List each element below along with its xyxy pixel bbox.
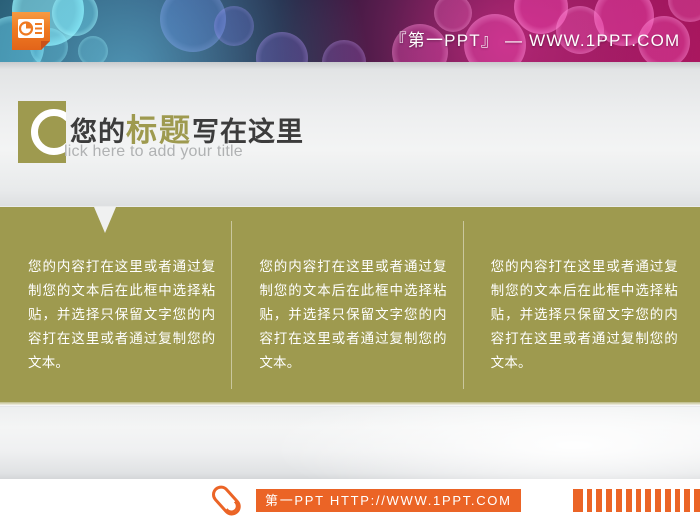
bokeh-circle xyxy=(322,40,366,62)
bokeh-circle xyxy=(668,0,700,22)
footer-stripe xyxy=(675,489,681,512)
powerpoint-icon xyxy=(9,8,53,54)
bokeh-circle xyxy=(160,0,226,52)
banner-site-text: 『第一PPT』 — WWW.1PPT.COM xyxy=(380,26,690,51)
content-columns: 您的内容打在这里或者通过复制您的文本后在此框中选择粘贴，并选择只保留文字您的内容… xyxy=(0,207,700,405)
footer-stripes xyxy=(573,489,700,512)
content-column-text: 您的内容打在这里或者通过复制您的文本后在此框中选择粘贴，并选择只保留文字您的内容… xyxy=(491,255,678,375)
bokeh-circle xyxy=(256,32,308,62)
content-column: 您的内容打在这里或者通过复制您的文本后在此框中选择粘贴，并选择只保留文字您的内容… xyxy=(231,207,462,405)
footer-stripe xyxy=(596,489,602,512)
footer-stripe xyxy=(655,489,661,512)
footer-stripe xyxy=(626,489,632,512)
footer-stripe xyxy=(684,489,690,512)
footer-stripe xyxy=(665,489,671,512)
footer-url-bar: 第一PPT HTTP://WWW.1PPT.COM xyxy=(256,489,521,512)
content-column: 您的内容打在这里或者通过复制您的文本后在此框中选择粘贴，并选择只保留文字您的内容… xyxy=(463,207,700,405)
content-column-text: 您的内容打在这里或者通过复制您的文本后在此框中选择粘贴，并选择只保留文字您的内容… xyxy=(259,255,446,375)
footer-stripe xyxy=(694,489,700,512)
footer-stripe xyxy=(587,489,593,512)
bokeh-circle xyxy=(78,36,108,62)
footer-stripe xyxy=(645,489,651,512)
lower-panel xyxy=(0,405,700,479)
bokeh-circle xyxy=(52,0,98,36)
page-subtitle: lick here to add your title xyxy=(64,143,243,161)
bokeh-circle xyxy=(214,6,254,46)
footer-stripe xyxy=(616,489,622,512)
letter-c-gap xyxy=(58,121,66,143)
pen-icon xyxy=(207,483,247,521)
footer-stripe xyxy=(573,489,583,512)
presentation-slide: 『第一PPT』 — WWW.1PPT.COM 您的标题写在这里 lick her… xyxy=(0,0,700,525)
title-decor-mark xyxy=(18,101,66,163)
footer-stripe xyxy=(606,489,612,512)
footer-stripe xyxy=(636,489,642,512)
content-column: 您的内容打在这里或者通过复制您的文本后在此框中选择粘贴，并选择只保留文字您的内容… xyxy=(0,207,231,405)
speech-bubble-notch xyxy=(94,207,116,233)
content-column-text: 您的内容打在这里或者通过复制您的文本后在此框中选择粘贴，并选择只保留文字您的内容… xyxy=(28,255,215,375)
